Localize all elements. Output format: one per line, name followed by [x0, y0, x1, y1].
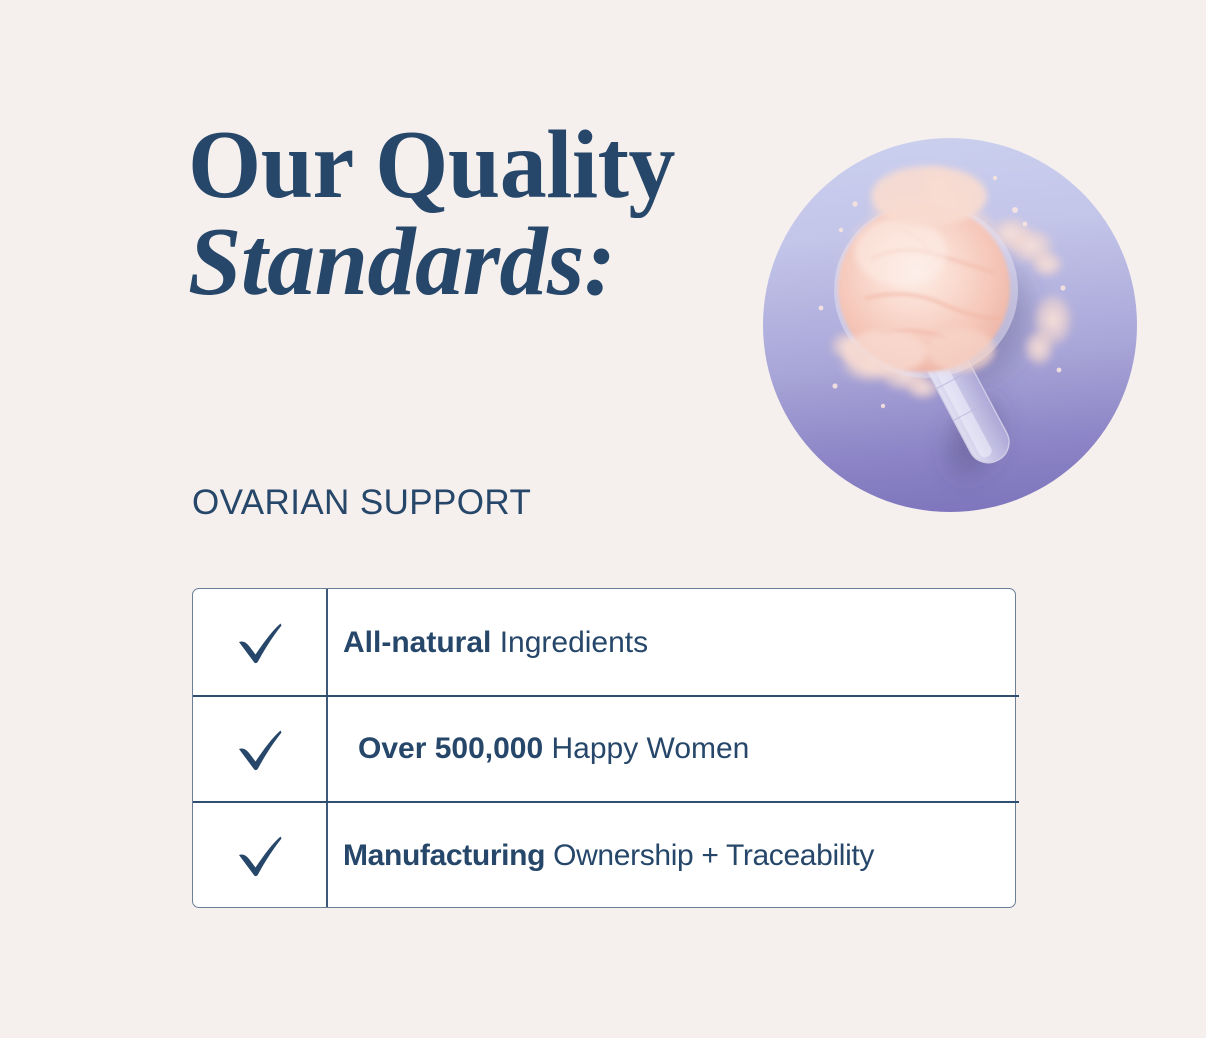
- list-item-label-strong: Manufacturing: [343, 839, 545, 872]
- quality-standards-list: All-natural Ingredients Over 500,000 Hap…: [192, 588, 1016, 908]
- check-icon: [233, 828, 287, 882]
- check-cell: [193, 615, 326, 669]
- page-title: Our Quality Standards:: [188, 118, 748, 308]
- check-cell: [193, 722, 326, 776]
- check-icon: [233, 615, 287, 669]
- list-item: Over 500,000 Happy Women: [193, 696, 1015, 803]
- section-subtitle: OVARIAN SUPPORT: [192, 483, 531, 523]
- list-item: All-natural Ingredients: [193, 589, 1015, 696]
- list-item-label-rest: Ingredients: [491, 626, 648, 659]
- list-item-label: Manufacturing Ownership + Traceability: [326, 839, 1015, 872]
- quality-standards-banner: Our Quality Standards: OVARIAN SUPPORT: [0, 0, 1206, 1038]
- check-cell: [193, 828, 326, 882]
- page-title-line-1: Our Quality: [188, 118, 731, 211]
- list-item-label: All-natural Ingredients: [326, 626, 1015, 659]
- list-item: Manufacturing Ownership + Traceability: [193, 802, 1015, 909]
- list-item-label-rest: Happy Women: [543, 732, 749, 765]
- powder-scoop-icon: [763, 138, 1137, 512]
- check-icon: [233, 722, 287, 776]
- list-item-label: Over 500,000 Happy Women: [326, 732, 1015, 765]
- page-title-line-2: Standards:: [188, 215, 742, 308]
- list-item-label-rest: Ownership + Traceability: [545, 839, 874, 872]
- list-item-label-strong: All-natural: [343, 626, 491, 659]
- product-image: [763, 138, 1137, 512]
- list-item-label-strong: Over 500,000: [358, 732, 543, 765]
